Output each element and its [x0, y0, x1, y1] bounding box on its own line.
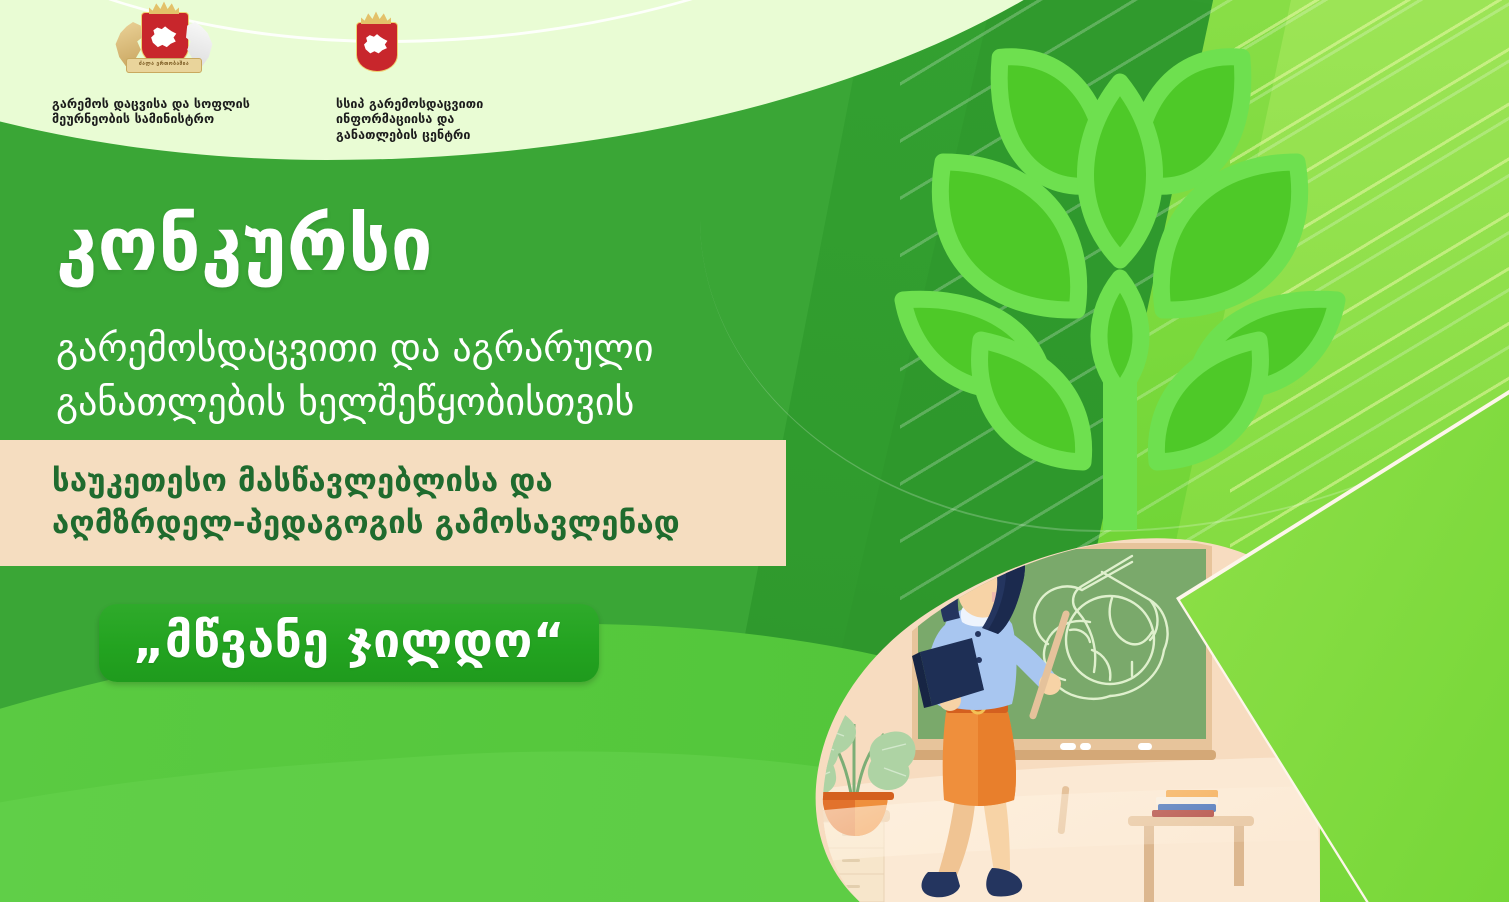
cream-banner-line2: აღმზრდელ-პედაგოგის გამოსავლენად — [52, 503, 772, 545]
page-subtitle-line2: განათლების ხელშეწყობისთვის — [56, 376, 816, 430]
logo-center: სსიპ გარემოსდაცვითი ინფორმაციისა და განა… — [336, 22, 541, 142]
logo-center-label-line1: სსიპ გარემოსდაცვითი — [336, 96, 541, 111]
motto-text: ძალა ერთობაშია — [127, 59, 201, 70]
motto-ribbon: ძალა ერთობაშია — [126, 58, 202, 73]
logo-ministry: ძალა ერთობაშია გარემოს დაცვისა და სოფლის… — [52, 12, 302, 127]
chalk-piece — [1080, 743, 1091, 750]
logo-ministry-label: გარემოს დაცვისა და სოფლის მეურნეობის სამ… — [52, 96, 302, 127]
stylized-leaf-tree — [885, 10, 1355, 530]
chalk-piece — [1138, 743, 1152, 750]
award-name-text: „მწვანე ჯილდო“ — [133, 617, 565, 665]
logo-center-label-line2: ინფორმაციისა და — [336, 111, 541, 126]
cream-banner: საუკეთესო მასწავლებლისა და აღმზრდელ-პედა… — [0, 440, 786, 566]
chalk-piece — [1060, 743, 1076, 750]
page-subtitle-line1: გარემოსდაცვითი და აგრარული — [56, 322, 816, 376]
page-title: კონკურსი — [56, 208, 433, 282]
award-name-badge: „მწვანე ჯილდო“ — [99, 604, 599, 682]
crown-icon — [149, 1, 179, 14]
poster-canvas: ძალა ერთობაშია გარემოს დაცვისა და სოფლის… — [0, 0, 1509, 902]
georgia-coat-of-arms-icon: ძალა ერთობაშია — [104, 12, 224, 92]
logo-center-label-line3: განათლების ცენტრი — [336, 127, 541, 142]
cream-banner-text: საუკეთესო მასწავლებლისა და აღმზრდელ-პედა… — [52, 461, 772, 545]
crown-icon — [361, 11, 391, 24]
logo-ministry-label-line2: მეურნეობის სამინისტრო — [52, 111, 302, 126]
cream-banner-line1: საუკეთესო მასწავლებლისა და — [52, 461, 772, 503]
georgia-small-coat-of-arms-icon — [350, 22, 408, 92]
logo-center-label: სსიპ გარემოსდაცვითი ინფორმაციისა და განა… — [336, 96, 541, 142]
page-subtitle: გარემოსდაცვითი და აგრარული განათლების ხე… — [56, 322, 816, 430]
logo-ministry-label-line1: გარემოს დაცვისა და სოფლის — [52, 96, 302, 111]
header-logos: ძალა ერთობაშია გარემოს დაცვისა და სოფლის… — [0, 0, 680, 150]
